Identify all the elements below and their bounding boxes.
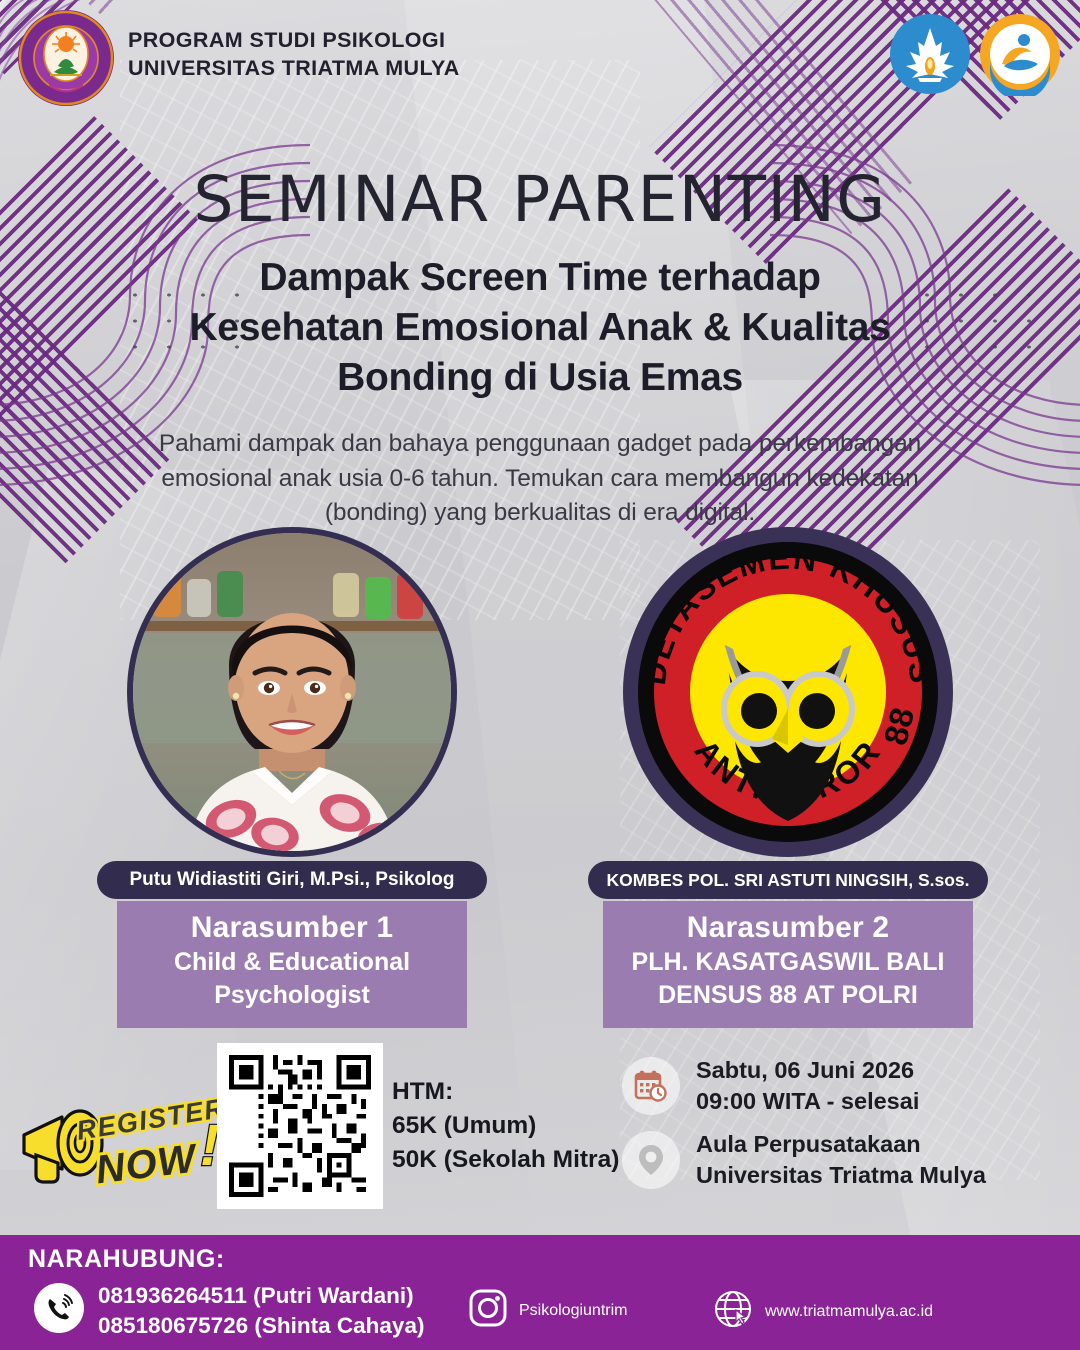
subtitle-line-1: Dampak Screen Time terhadap: [0, 253, 1080, 303]
speaker-card-1: Putu Widiastiti Giri, M.Psi., Psikolog N…: [52, 527, 532, 1028]
event-venue: Aula Perpusatakaan Universitas Triatma M…: [696, 1129, 986, 1191]
speaker-name-badge: KOMBES POL. SRI ASTUTI NINGSIH, S.sos.: [588, 861, 988, 899]
register-now-badge[interactable]: REGISTER NOW !: [18, 1083, 233, 1198]
brand-line-2: UNIVERSITAS TRIATMA MULYA: [128, 55, 460, 83]
venue-line-1: Aula Perpusatakaan: [696, 1129, 986, 1160]
subtitle-line-3: Bonding di Usia Emas: [0, 353, 1080, 403]
contact-heading: NARAHUBUNG:: [28, 1245, 225, 1274]
poster-root: PROGRAM STUDI PSIKOLOGI UNIVERSITAS TRIA…: [0, 0, 1080, 1350]
event-date-line: Sabtu, 06 Juni 2026 09:00 WITA - selesai: [622, 1055, 1062, 1117]
event-datetime: Sabtu, 06 Juni 2026 09:00 WITA - selesai: [696, 1055, 919, 1117]
website-url: www.triatmamulya.ac.id: [765, 1303, 933, 1321]
poster-header: PROGRAM STUDI PSIKOLOGI UNIVERSITAS TRIA…: [0, 0, 1080, 110]
page-title: SEMINAR PARENTING: [0, 168, 1080, 231]
speakers-section: Putu Widiastiti Giri, M.Psi., Psikolog N…: [0, 527, 1080, 1037]
speaker-card-2: DETASEMEN KHUSUS ANTI TEROR 88: [548, 527, 1028, 1028]
now-label: NOW: [93, 1136, 201, 1192]
instagram-link[interactable]: Psikologiuntrim: [468, 1288, 627, 1333]
title-block: SEMINAR PARENTING Dampak Screen Time ter…: [0, 168, 1080, 531]
event-date: Sabtu, 06 Juni 2026: [696, 1055, 919, 1086]
htm-price-partner: 50K (Sekolah Mitra): [392, 1143, 619, 1177]
globe-icon: [712, 1288, 754, 1335]
contact-list: 081936264511 (Putri Wardani) 08518067572…: [34, 1281, 424, 1340]
instagram-icon: [468, 1288, 508, 1333]
calendar-clock-icon: [622, 1057, 680, 1115]
htm-label: HTM:: [392, 1075, 619, 1109]
university-seal-icon: [16, 8, 116, 108]
ticket-price-block: HTM: 65K (Umum) 50K (Sekolah Mitra): [392, 1075, 619, 1176]
diktisaintek-berdampak-logo-icon: [978, 12, 1062, 101]
contact-number-1: 081936264511 (Putri Wardani): [98, 1281, 424, 1311]
lead-paragraph: Pahami dampak dan bahaya penggunaan gadg…: [0, 427, 1080, 531]
brand-title: PROGRAM STUDI PSIKOLOGI UNIVERSITAS TRIA…: [128, 27, 460, 82]
contact-numbers: 081936264511 (Putri Wardani) 08518067572…: [98, 1281, 424, 1340]
venue-line-2: Universitas Triatma Mulya: [696, 1160, 986, 1191]
info-row: REGISTER NOW !: [0, 1035, 1080, 1220]
event-details: Sabtu, 06 Juni 2026 09:00 WITA - selesai…: [622, 1055, 1062, 1203]
phone-ring-icon: [34, 1283, 84, 1338]
partner-logos: [888, 12, 1062, 101]
speaker-role-line-2: Psychologist: [125, 980, 459, 1011]
speaker-role-card: Narasumber 1 Child & Educational Psychol…: [117, 901, 467, 1028]
densus-88-emblem-icon: DETASEMEN KHUSUS ANTI TEROR 88: [623, 527, 953, 857]
event-location-line: Aula Perpusatakaan Universitas Triatma M…: [622, 1129, 1062, 1191]
htm-price-general: 65K (Umum): [392, 1109, 619, 1143]
subtitle-line-2: Kesehatan Emosional Anak & Kualitas: [0, 303, 1080, 353]
subtitle: Dampak Screen Time terhadap Kesehatan Em…: [0, 253, 1080, 403]
event-time: 09:00 WITA - selesai: [696, 1086, 919, 1117]
brand-line-1: PROGRAM STUDI PSIKOLOGI: [128, 27, 460, 55]
speaker-role-number: Narasumber 1: [125, 911, 459, 945]
speaker-role-line-1: PLH. KASATGASWIL BALI: [611, 947, 965, 978]
speaker-name-badge: Putu Widiastiti Giri, M.Psi., Psikolog: [97, 861, 487, 899]
speaker-role-card: Narasumber 2 PLH. KASATGASWIL BALI DENSU…: [603, 901, 973, 1028]
qr-code-icon[interactable]: [217, 1043, 383, 1209]
speaker-portrait-photo: [127, 527, 457, 857]
tut-wuri-handayani-logo-icon: [888, 12, 972, 101]
contact-number-2: 085180675726 (Shinta Cahaya): [98, 1311, 424, 1341]
map-pin-icon: [622, 1131, 680, 1189]
speaker-role-number: Narasumber 2: [611, 911, 965, 945]
website-link[interactable]: www.triatmamulya.ac.id: [712, 1288, 933, 1335]
speaker-role-line-2: DENSUS 88 AT POLRI: [611, 980, 965, 1011]
instagram-handle: Psikologiuntrim: [519, 1302, 627, 1320]
speaker-role-line-1: Child & Educational: [125, 947, 459, 978]
